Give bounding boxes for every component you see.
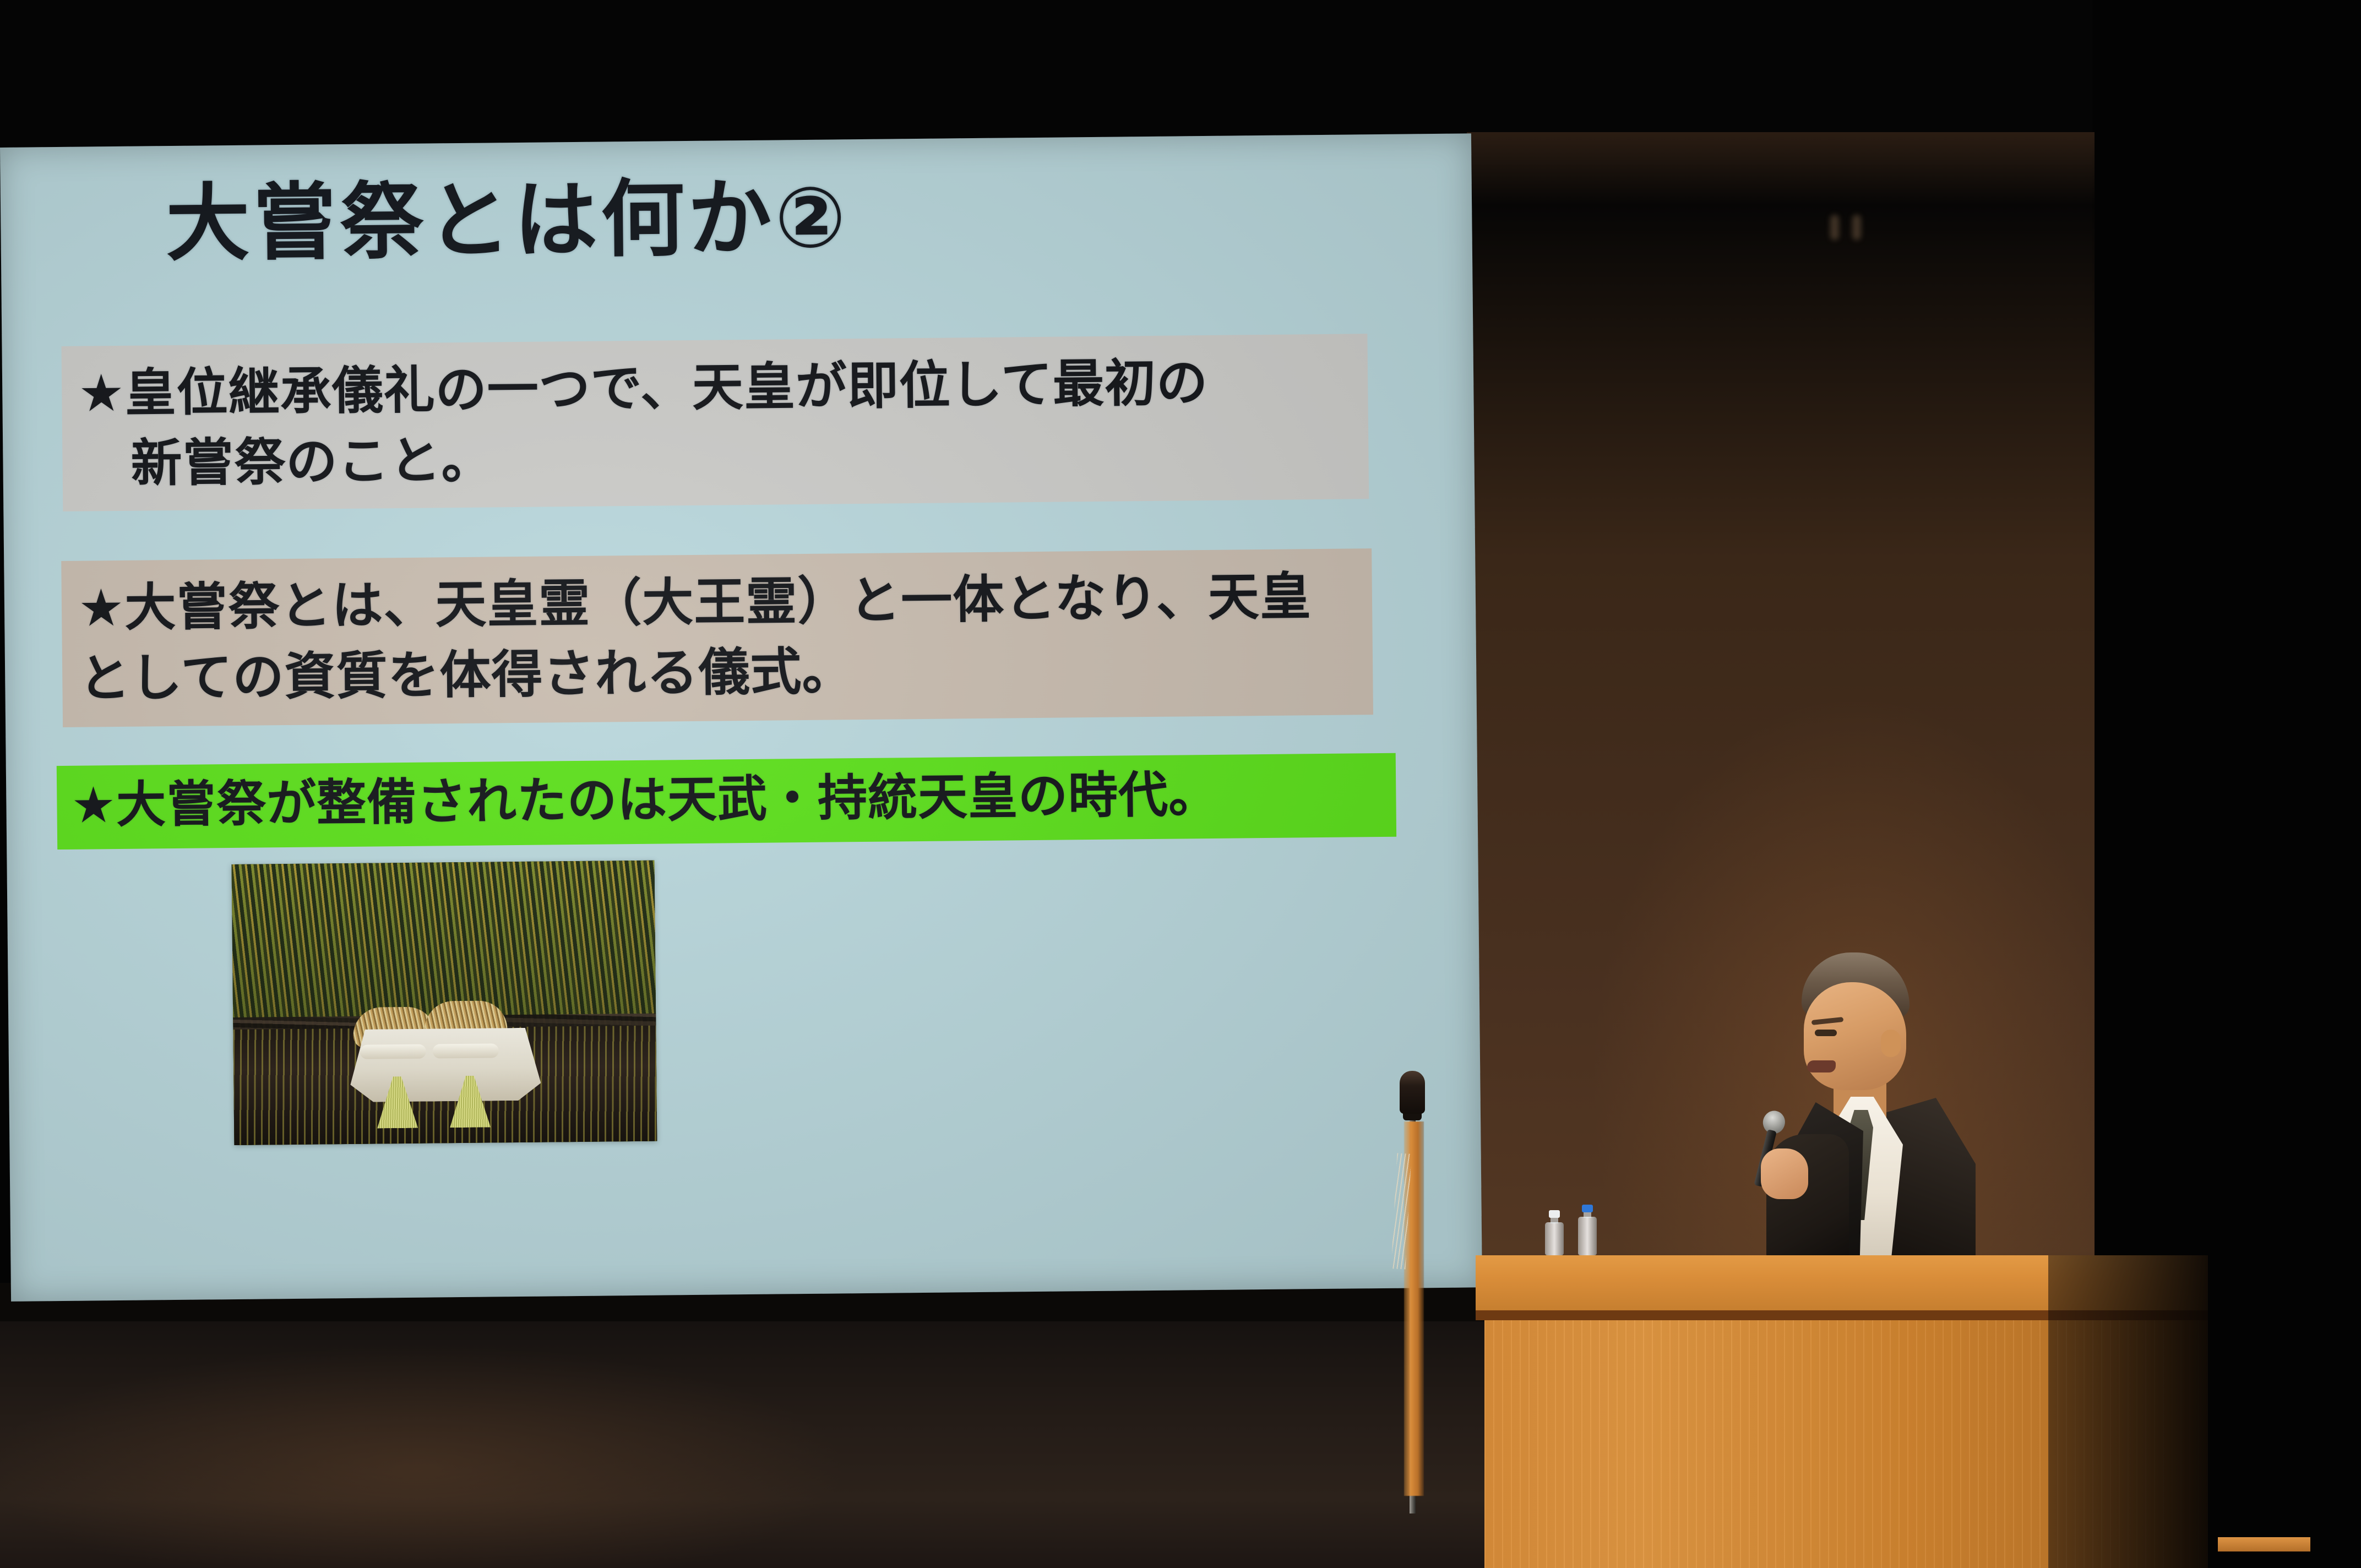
floor-microphone-stand (1381, 1071, 1447, 1544)
slide-bullet-box-2: ★大嘗祭とは、天皇霊（大王霊）と一体となり、天皇 としての資質を体得される儀式。 (61, 548, 1373, 727)
slide-bullet-1-line-1: ★皇位継承儀礼の一つで、天皇が即位して最初の (78, 346, 1368, 429)
water-bottle-blue-cap (1578, 1205, 1597, 1255)
mouth (1807, 1060, 1836, 1072)
bottle-cap (1582, 1205, 1593, 1212)
lecture-hall-photograph: 大嘗祭とは何か② ★皇位継承儀礼の一つで、天皇が即位して最初の 新嘗祭のこと。 … (0, 0, 2361, 1568)
hand (1761, 1148, 1808, 1199)
slide-bullet-2-line-2: としての資質を体得される儀式。 (79, 631, 1373, 714)
eye (1815, 1030, 1837, 1036)
slide-bullet-3-line-1: ★大嘗祭が整備されたのは天武・持統天皇の時代。 (71, 769, 1396, 831)
slide-bullet-2-line-1: ★大嘗祭とは、天皇霊（大王霊）と一体となり、天皇 (78, 560, 1372, 644)
bottle-body (1578, 1217, 1597, 1255)
white-offering-tray (350, 1028, 541, 1102)
slide-rice-photo (232, 861, 657, 1145)
straw-tie-left (360, 1044, 426, 1059)
stage-floor-left (0, 1321, 1487, 1568)
wooden-podium (1476, 1255, 2208, 1568)
slide-bullet-1-line-2: 新嘗祭のこと。 (79, 416, 1369, 499)
slide-title: 大嘗祭とは何か② (166, 169, 1323, 268)
wall-light-glint (1830, 215, 1839, 240)
wall-light-glint (1852, 215, 1861, 240)
far-right-wooden-ledge (2218, 1537, 2310, 1551)
straw-tie-right (433, 1043, 499, 1058)
water-bottle-white-cap (1545, 1211, 1564, 1255)
bottle-cap (1549, 1210, 1560, 1218)
bottle-body (1545, 1222, 1564, 1255)
microphone-icon (1400, 1071, 1425, 1114)
slide-bullet-box-1: ★皇位継承儀礼の一つで、天皇が即位して最初の 新嘗祭のこと。 (61, 334, 1369, 511)
ear (1881, 1030, 1901, 1057)
speaker-person (1751, 952, 1982, 1261)
slide-bullet-box-3-highlight: ★大嘗祭が整備されたのは天武・持統天皇の時代。 (57, 753, 1396, 850)
podium-shadow-side (2048, 1255, 2208, 1568)
projected-slide: 大嘗祭とは何か② ★皇位継承儀礼の一つで、天皇が即位して最初の 新嘗祭のこと。 … (0, 133, 1482, 1302)
